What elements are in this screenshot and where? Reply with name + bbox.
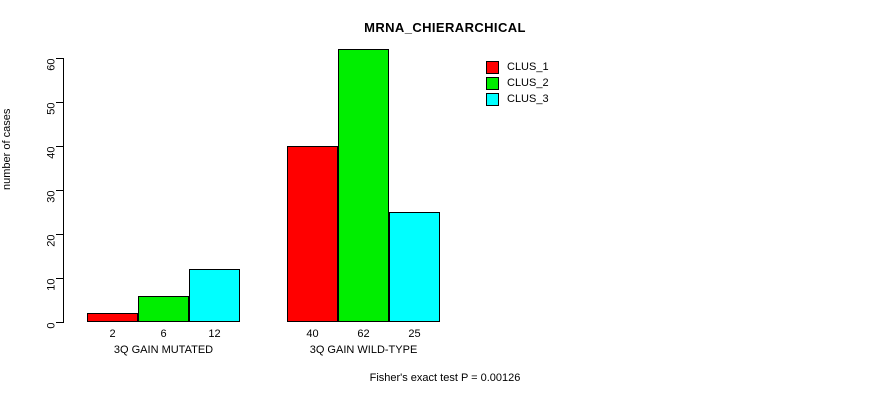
legend-item: CLUS_1 [486,59,549,75]
legend: CLUS_1 CLUS_2 CLUS_3 [486,59,549,107]
legend-item: CLUS_3 [486,91,549,107]
bar [389,212,440,322]
group-axis-label: 3Q GAIN WILD-TYPE [247,345,480,356]
legend-swatch-clus-1 [486,61,499,74]
bar-value-label: 6 [138,329,189,340]
y-axis-tick-label: 20 [47,235,58,265]
legend-label-clus-2: CLUS_2 [507,78,549,89]
legend-swatch-clus-2 [486,77,499,90]
bar-value-label: 40 [287,329,338,340]
group-axis-label: 3Q GAIN MUTATED [47,345,280,356]
y-axis-tick-label: 40 [47,147,58,177]
y-axis-tick-label: 30 [47,191,58,221]
bar [338,49,389,322]
y-axis-tick-label: 50 [47,103,58,133]
y-axis-tick-label: 60 [47,59,58,89]
legend-label-clus-3: CLUS_3 [507,94,549,105]
bar-value-label: 2 [87,329,138,340]
legend-label-clus-1: CLUS_1 [507,62,549,73]
bar-value-label: 25 [389,329,440,340]
statistical-test-annotation: Fisher's exact test P = 0.00126 [0,372,890,384]
bar [138,296,189,322]
bar [189,269,240,322]
y-axis-tick-label: 10 [47,279,58,309]
bar [287,146,338,322]
page-title: MRNA_CHIERARCHICAL [0,20,890,35]
y-axis-title: number of cases [2,109,13,190]
bar-value-label: 12 [189,329,240,340]
y-axis-line [63,58,64,323]
bar [87,313,138,322]
legend-item: CLUS_2 [486,75,549,91]
bar-value-label: 62 [338,329,389,340]
legend-swatch-clus-3 [486,93,499,106]
bar-chart-figure: MRNA_CHIERARCHICAL 0102030405060 number … [0,0,890,400]
